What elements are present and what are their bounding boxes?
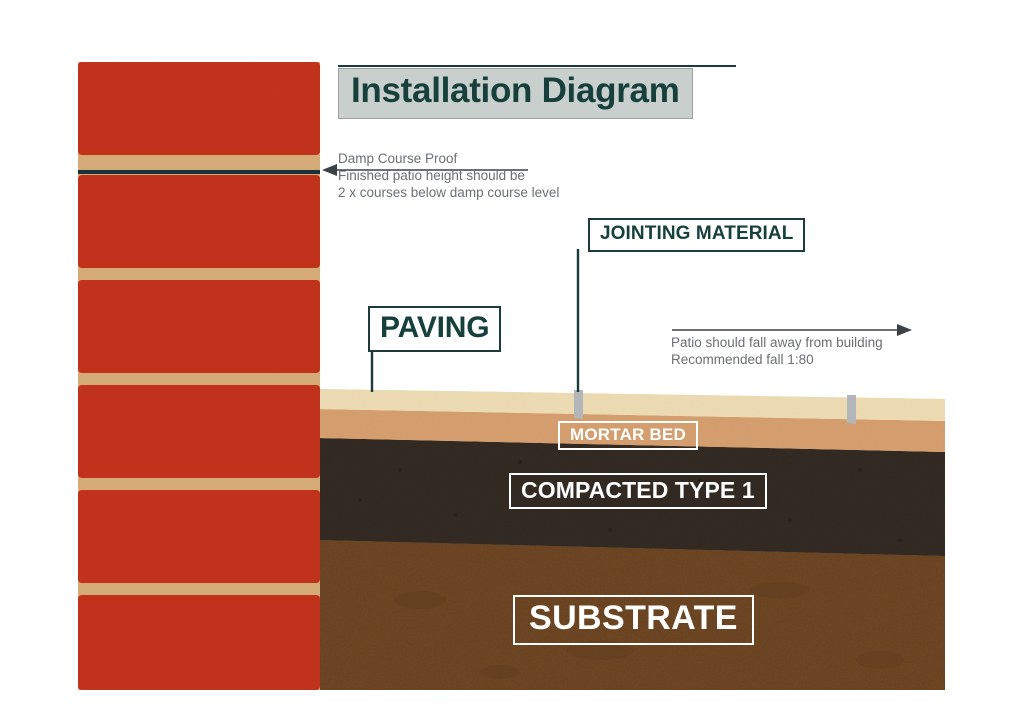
label-compacted-type-1: COMPACTED TYPE 1: [509, 473, 767, 509]
fall-note-line-2: Recommended fall 1:80: [671, 351, 883, 368]
callout-paving: PAVING: [368, 306, 501, 352]
damp-course-note-line-2: 2 x courses below damp course level: [338, 184, 559, 201]
label-substrate: SUBSTRATE: [513, 595, 754, 645]
title-underline: [338, 65, 736, 67]
fall-note: Patio should fall away from building Rec…: [671, 334, 883, 368]
damp-course-note-heading: Damp Course Proof: [338, 150, 559, 167]
page-title: Installation Diagram: [338, 68, 693, 119]
joint-right: [847, 395, 856, 424]
callout-jointing-material: JOINTING MATERIAL: [588, 218, 805, 252]
damp-course-note-line-1: Finished patio height should be: [338, 167, 559, 184]
label-mortar-bed: MORTAR BED: [558, 421, 698, 450]
damp-course-note: Damp Course Proof Finished patio height …: [338, 150, 559, 201]
installation-diagram: Installation Diagram Damp Course Proof F…: [0, 0, 1024, 724]
fall-note-line-1: Patio should fall away from building: [671, 334, 883, 351]
damp-proof-course-line: [78, 170, 320, 174]
diagram-title: Installation Diagram: [338, 68, 693, 119]
joint-left: [574, 390, 583, 419]
brick-wall: [78, 62, 320, 690]
